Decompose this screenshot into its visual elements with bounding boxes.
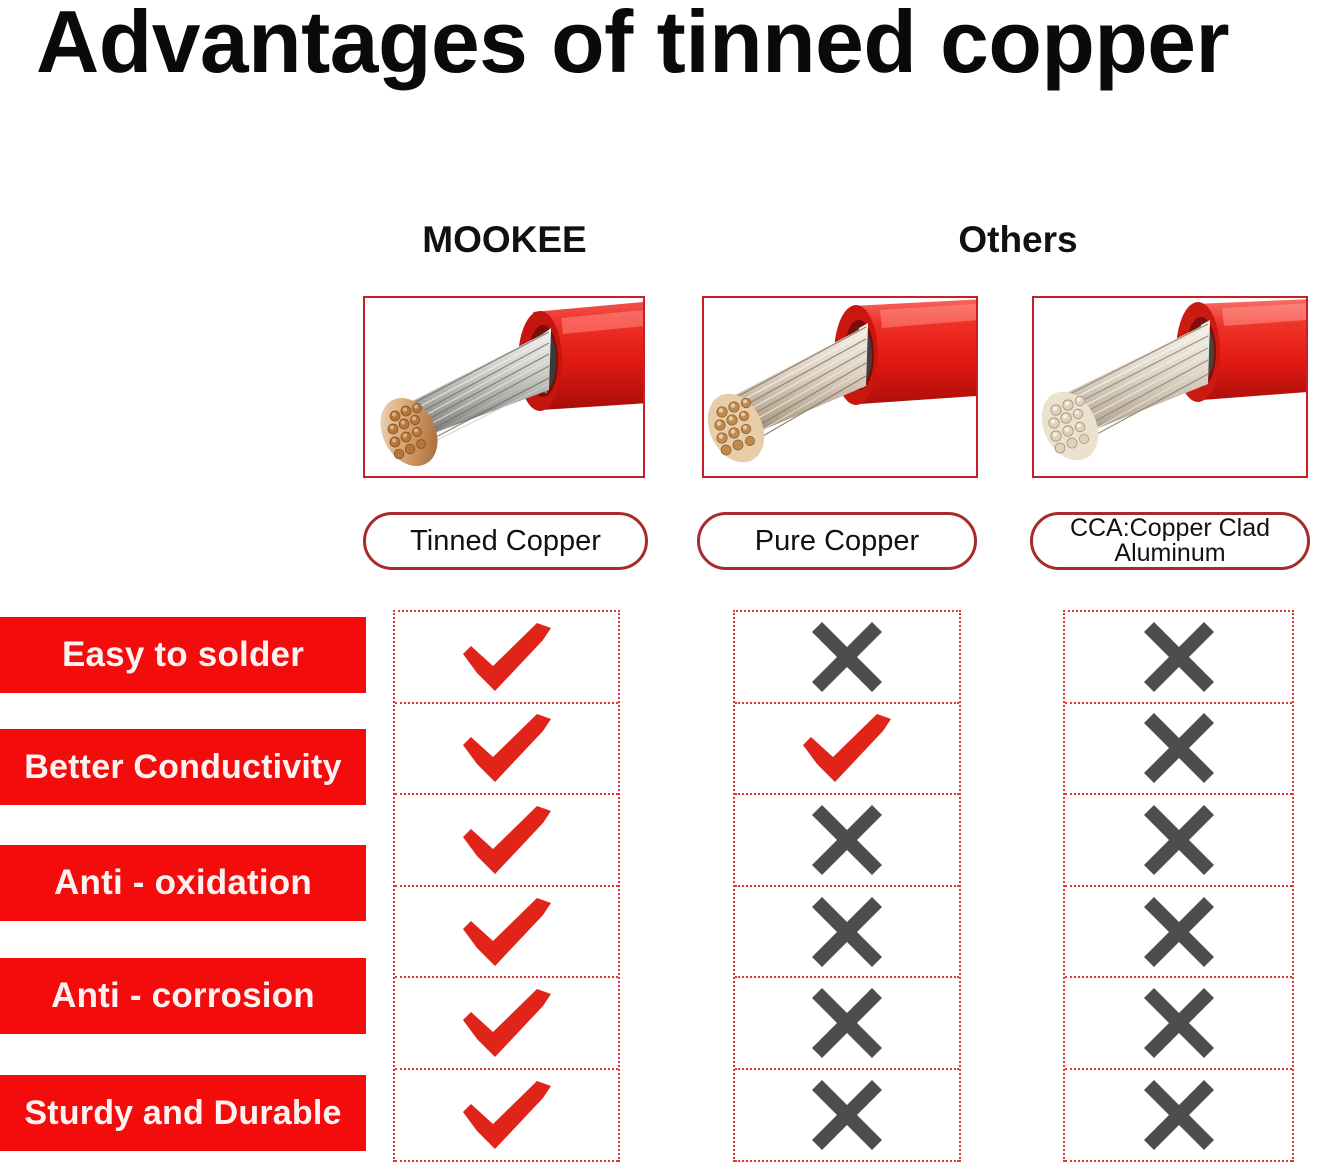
mark-cell — [395, 1070, 618, 1162]
mark-cell — [735, 704, 959, 796]
feature-banner-sturdy-and-durable: Sturdy and Durable — [0, 1075, 366, 1151]
feature-label: Better Conductivity — [24, 748, 341, 787]
feature-banner-better-conductivity: Better Conductivity — [0, 729, 366, 805]
mark-cell — [395, 887, 618, 979]
mark-cell — [395, 795, 618, 887]
feature-banner-anti-oxidation: Anti - oxidation — [0, 845, 366, 921]
material-label-text: Pure Copper — [755, 527, 919, 556]
mark-cell — [1065, 978, 1292, 1070]
material-label-text: Tinned Copper — [410, 527, 601, 556]
mark-cell — [735, 887, 959, 979]
check-mark-icon — [461, 621, 553, 693]
wire-photo-frame-cca — [1032, 296, 1308, 478]
cross-mark-icon — [1144, 988, 1214, 1058]
material-label-cca: CCA:Copper Clad Aluminum — [1030, 512, 1310, 570]
mark-cell — [735, 978, 959, 1070]
cross-mark-icon — [812, 988, 882, 1058]
cross-mark-icon — [812, 622, 882, 692]
mark-cell — [735, 612, 959, 704]
material-label-text: CCA:Copper Clad Aluminum — [1070, 516, 1270, 567]
mark-cell — [1065, 1070, 1292, 1162]
mark-column-cca — [1063, 610, 1294, 1162]
mark-cell — [395, 704, 618, 796]
mark-cell — [395, 978, 618, 1070]
check-mark-icon — [461, 712, 553, 784]
mark-cell — [735, 1070, 959, 1162]
page-title: Advantages of tinned copper — [36, 0, 1318, 90]
cross-mark-icon — [1144, 713, 1214, 783]
check-mark-icon — [461, 1079, 553, 1151]
cross-mark-icon — [812, 1080, 882, 1150]
mark-cell — [1065, 612, 1292, 704]
mark-cell — [735, 795, 959, 887]
check-mark-icon — [461, 987, 553, 1059]
mark-cell — [1065, 887, 1292, 979]
mark-column-mookee — [393, 610, 620, 1162]
cross-mark-icon — [812, 897, 882, 967]
tinned-copper-wire-photo — [365, 298, 643, 476]
check-mark-icon — [461, 896, 553, 968]
mark-cell — [1065, 704, 1292, 796]
pure-copper-wire-photo — [704, 298, 976, 476]
feature-label: Anti - corrosion — [51, 976, 315, 1016]
wire-photo-frame-pure-copper — [702, 296, 978, 478]
feature-banner-anti-corrosion: Anti - corrosion — [0, 958, 366, 1034]
brand-header-others: Others — [870, 219, 1166, 261]
mark-column-pure-copper — [733, 610, 961, 1162]
material-label-pure-copper: Pure Copper — [697, 512, 977, 570]
brand-header-mookee: MOOKEE — [352, 219, 657, 261]
cross-mark-icon — [1144, 805, 1214, 875]
feature-label: Easy to solder — [62, 635, 304, 675]
check-mark-icon — [461, 804, 553, 876]
feature-label: Anti - oxidation — [54, 863, 312, 903]
cross-mark-icon — [812, 805, 882, 875]
mark-cell — [1065, 795, 1292, 887]
feature-banner-easy-to-solder: Easy to solder — [0, 617, 366, 693]
cross-mark-icon — [1144, 622, 1214, 692]
mark-cell — [395, 612, 618, 704]
feature-label: Sturdy and Durable — [24, 1094, 341, 1133]
cross-mark-icon — [1144, 897, 1214, 967]
material-label-tinned-copper: Tinned Copper — [363, 512, 648, 570]
wire-photo-frame-tinned-copper — [363, 296, 645, 478]
cca-wire-photo — [1034, 298, 1306, 476]
check-mark-icon — [801, 712, 893, 784]
cross-mark-icon — [1144, 1080, 1214, 1150]
